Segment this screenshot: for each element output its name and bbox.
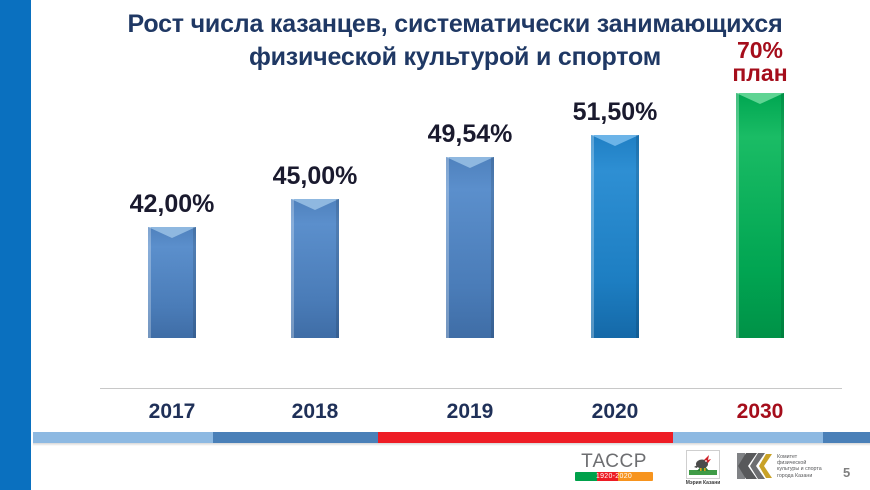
committee-logo-text: Комитет физической культуры и спорта гор…	[777, 454, 822, 479]
bar-2017[interactable]	[148, 227, 196, 338]
page-number: 5	[843, 465, 850, 480]
bar-group-2030: 70% план	[690, 8, 830, 338]
bar-bevel-icon	[446, 157, 494, 168]
kazan-logo-caption: Мэрия Казани	[676, 480, 730, 486]
bar-2018[interactable]	[291, 199, 339, 338]
bar-highlight-left	[148, 227, 151, 338]
sports-committee-logo: Комитет физической культуры и спорта гор…	[737, 453, 837, 483]
zilant-shield-icon	[686, 450, 720, 479]
zilant-dragon-icon	[687, 451, 719, 478]
footer-segment-light-blue-2	[673, 432, 823, 443]
bar-group-2020: 51,50%	[545, 8, 685, 338]
bar-bevel-icon	[291, 199, 339, 210]
bar-2019[interactable]	[446, 157, 494, 338]
tassr-logo-years: 1920-2020	[575, 472, 653, 481]
bar-shadow-right	[336, 199, 339, 338]
bar-group-2019: 49,54%	[400, 8, 540, 338]
x-axis-line	[100, 388, 842, 389]
bar-shadow-right	[193, 227, 196, 338]
kazan-coat-of-arms-logo: Мэрия Казани	[676, 450, 730, 486]
bar-group-2017: 42,00%	[102, 8, 242, 338]
footer-segment-light-blue-1	[33, 432, 213, 443]
bar-value-label-2018: 45,00%	[245, 162, 385, 191]
bar-bevel-icon	[736, 93, 784, 104]
category-label-2030: 2030	[690, 400, 830, 424]
bar-shadow-right	[781, 93, 784, 338]
presentation-slide: Рост числа казанцев, систематически зани…	[0, 0, 870, 490]
bar-chart: 42,00% 2017 45,00% 2018	[0, 0, 870, 440]
footer-segment-medium-blue-2	[823, 432, 870, 443]
bar-bevel-icon	[148, 227, 196, 238]
kkk-chevron-icon	[737, 453, 772, 479]
bar-highlight-left	[291, 199, 294, 338]
footer-segment-medium-blue-1	[213, 432, 378, 443]
bar-highlight-left	[591, 135, 594, 338]
footer-bar-shadow	[33, 443, 870, 446]
category-label-2020: 2020	[545, 400, 685, 424]
bar-value-label-2020: 51,50%	[545, 98, 685, 127]
committee-text-line-4: города Казани	[777, 473, 822, 479]
bar-annotation-2030: план	[690, 61, 830, 86]
bar-value-label-2019: 49,54%	[400, 120, 540, 149]
bar-highlight-left	[736, 93, 739, 338]
bar-2020[interactable]	[591, 135, 639, 338]
footer-color-bar	[33, 432, 870, 443]
category-label-2018: 2018	[245, 400, 385, 424]
bar-shadow-right	[636, 135, 639, 338]
committee-text-line-3: культуры и спорта	[777, 466, 822, 472]
bar-group-2018: 45,00%	[245, 8, 385, 338]
bar-2030[interactable]	[736, 93, 784, 338]
tassr-logo-wordmark: ТАССР	[575, 452, 653, 471]
category-label-2019: 2019	[400, 400, 540, 424]
bar-shadow-right	[491, 157, 494, 338]
bar-bevel-icon	[591, 135, 639, 146]
bar-highlight-left	[446, 157, 449, 338]
footer-segment-red	[378, 432, 673, 443]
bar-value-label-2017: 42,00%	[102, 190, 242, 219]
tassr-logo: ТАССР 1920-2020	[575, 452, 653, 481]
category-label-2017: 2017	[102, 400, 242, 424]
